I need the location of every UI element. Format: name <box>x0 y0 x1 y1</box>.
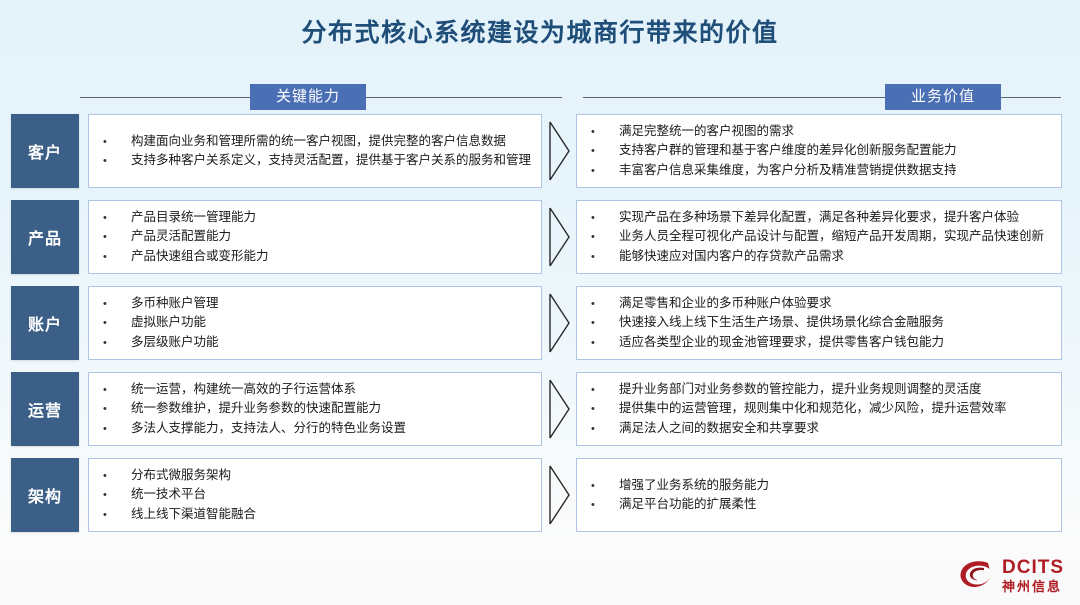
bullet-item: •虚拟账户功能 <box>103 313 531 332</box>
bullet-item: •提升业务部门对业务参数的管控能力，提升业务规则调整的灵活度 <box>591 380 1051 399</box>
bullet-text: 产品灵活配置能力 <box>131 230 531 243</box>
slide-title-bar: 分布式核心系统建设为城商行带来的价值 <box>0 0 1080 62</box>
arrow-right-icon <box>542 114 576 188</box>
bullet-dot-icon: • <box>591 127 619 138</box>
bullet-dot-icon: • <box>591 424 619 435</box>
bullet-item: •快速接入线上线下生活生产场景、提供场景化综合金融服务 <box>591 313 1051 332</box>
bullet-item: •满足完整统一的客户视图的需求 <box>591 122 1051 141</box>
bullet-text: 业务人员全程可视化产品设计与配置，缩短产品开发周期，实现产品快速创新 <box>619 230 1051 243</box>
bullet-dot-icon: • <box>591 166 619 177</box>
capabilities-box: •多币种账户管理•虚拟账户功能•多层级账户功能 <box>88 286 542 360</box>
bullet-dot-icon: • <box>103 232 131 243</box>
bullet-item: •适应各类型企业的现金池管理要求，提供零售客户钱包能力 <box>591 333 1051 352</box>
bullet-dot-icon: • <box>591 146 619 157</box>
bullet-item: •线上线下渠道智能融合 <box>103 505 531 524</box>
bullet-text: 快速接入线上线下生活生产场景、提供场景化综合金融服务 <box>619 316 1051 329</box>
matrix-row: 账户•多币种账户管理•虚拟账户功能•多层级账户功能•满足零售和企业的多币种账户体… <box>0 286 1080 360</box>
bullet-text: 分布式微服务架构 <box>131 469 531 482</box>
page-title: 分布式核心系统建设为城商行带来的价值 <box>301 13 778 49</box>
logo-brand-cn: 神州信息 <box>1002 580 1064 593</box>
bullet-text: 产品快速组合或变形能力 <box>131 250 531 263</box>
column-headers: 关键能力 业务价值 <box>0 82 1080 112</box>
bullet-item: •统一参数维护，提升业务参数的快速配置能力 <box>103 399 531 418</box>
slide-canvas: 分布式核心系统建设为城商行带来的价值 关键能力 业务价值 客户•构建面向业务和管… <box>0 0 1080 605</box>
row-label-text: 账户 <box>28 311 62 335</box>
row-label-text: 产品 <box>28 225 62 249</box>
arrow-right-icon <box>542 200 576 274</box>
row-label-text: 架构 <box>28 483 62 507</box>
bullet-dot-icon: • <box>591 318 619 329</box>
column-header-label-values: 业务价值 <box>885 84 1001 110</box>
bullet-item: •支持多种客户关系定义，支持灵活配置，提供基于客户关系的服务和管理 <box>103 151 531 170</box>
bullet-text: 统一运营，构建统一高效的子行运营体系 <box>131 383 531 396</box>
header-rule-right <box>1001 97 1061 98</box>
bullet-text: 满足完整统一的客户视图的需求 <box>619 125 1051 138</box>
bullet-item: •支持客户群的管理和基于客户维度的差异化创新服务配置能力 <box>591 141 1051 160</box>
bullet-text: 产品目录统一管理能力 <box>131 211 531 224</box>
bullet-text: 虚拟账户功能 <box>131 316 531 329</box>
bullet-item: •多层级账户功能 <box>103 333 531 352</box>
bullet-item: •产品快速组合或变形能力 <box>103 247 531 266</box>
bullet-item: •满足零售和企业的多币种账户体验要求 <box>591 294 1051 313</box>
company-logo: DCITS 神州信息 <box>958 555 1064 595</box>
matrix-row: 产品•产品目录统一管理能力•产品灵活配置能力•产品快速组合或变形能力•实现产品在… <box>0 200 1080 274</box>
bullet-item: •提供集中的运营管理，规则集中化和规范化，减少风险，提升运营效率 <box>591 399 1051 418</box>
business-value-box: •实现产品在多种场景下差异化配置，满足各种差异化要求，提升客户体验•业务人员全程… <box>576 200 1062 274</box>
bullet-dot-icon: • <box>103 510 131 521</box>
capabilities-box: •分布式微服务架构•统一技术平台•线上线下渠道智能融合 <box>88 458 542 532</box>
bullet-text: 丰富客户信息采集维度，为客户分析及精准营销提供数据支持 <box>619 164 1051 177</box>
bullet-text: 线上线下渠道智能融合 <box>131 508 531 521</box>
bullet-item: •多币种账户管理 <box>103 294 531 313</box>
header-rule-left <box>583 97 885 98</box>
bullet-text: 满足法人之间的数据安全和共享要求 <box>619 422 1051 435</box>
bullet-text: 满足平台功能的扩展柔性 <box>619 498 1051 511</box>
bullet-dot-icon: • <box>103 156 131 167</box>
bullet-item: •丰富客户信息采集维度，为客户分析及精准营销提供数据支持 <box>591 161 1051 180</box>
bullet-text: 提供集中的运营管理，规则集中化和规范化，减少风险，提升运营效率 <box>619 402 1051 415</box>
bullet-text: 多币种账户管理 <box>131 297 531 310</box>
logo-brand-en: DCITS <box>1002 558 1064 577</box>
bullet-dot-icon: • <box>591 252 619 263</box>
bullet-item: •满足平台功能的扩展柔性 <box>591 495 1051 514</box>
row-label-1: 客户 <box>11 114 79 188</box>
bullet-text: 能够快速应对国内客户的存贷款产品需求 <box>619 250 1051 263</box>
capabilities-box: •产品目录统一管理能力•产品灵活配置能力•产品快速组合或变形能力 <box>88 200 542 274</box>
bullet-text: 多法人支撑能力，支持法人、分行的特色业务设置 <box>131 422 531 435</box>
matrix-row: 运营•统一运营，构建统一高效的子行运营体系•统一参数维护，提升业务参数的快速配置… <box>0 372 1080 446</box>
column-header-label-capabilities: 关键能力 <box>250 84 366 110</box>
bullet-item: •产品目录统一管理能力 <box>103 208 531 227</box>
business-value-box: •满足完整统一的客户视图的需求•支持客户群的管理和基于客户维度的差异化创新服务配… <box>576 114 1062 188</box>
row-label-text: 客户 <box>28 139 62 163</box>
bullet-text: 多层级账户功能 <box>131 336 531 349</box>
business-value-box: •满足零售和企业的多币种账户体验要求•快速接入线上线下生活生产场景、提供场景化综… <box>576 286 1062 360</box>
bullet-dot-icon: • <box>591 404 619 415</box>
bullet-dot-icon: • <box>103 299 131 310</box>
row-label-5: 架构 <box>11 458 79 532</box>
column-header-values: 业务价值 <box>583 82 1061 112</box>
matrix-row: 架构•分布式微服务架构•统一技术平台•线上线下渠道智能融合•增强了业务系统的服务… <box>0 458 1080 532</box>
row-label-4: 运营 <box>11 372 79 446</box>
header-rule-right <box>366 97 562 98</box>
bullet-dot-icon: • <box>103 338 131 349</box>
bullet-text: 支持客户群的管理和基于客户维度的差异化创新服务配置能力 <box>619 144 1051 157</box>
bullet-dot-icon: • <box>591 385 619 396</box>
bullet-item: •构建面向业务和管理所需的统一客户视图，提供完整的客户信息数据 <box>103 132 531 151</box>
bullet-dot-icon: • <box>591 338 619 349</box>
bullet-dot-icon: • <box>103 471 131 482</box>
bullet-dot-icon: • <box>591 481 619 492</box>
bullet-dot-icon: • <box>103 318 131 329</box>
business-value-box: •增强了业务系统的服务能力•满足平台功能的扩展柔性 <box>576 458 1062 532</box>
bullet-item: •能够快速应对国内客户的存贷款产品需求 <box>591 247 1051 266</box>
row-label-text: 运营 <box>28 397 62 421</box>
bullet-text: 实现产品在多种场景下差异化配置，满足各种差异化要求，提升客户体验 <box>619 211 1051 224</box>
bullet-text: 统一技术平台 <box>131 488 531 501</box>
bullet-text: 提升业务部门对业务参数的管控能力，提升业务规则调整的灵活度 <box>619 383 1051 396</box>
capabilities-box: •统一运营，构建统一高效的子行运营体系•统一参数维护，提升业务参数的快速配置能力… <box>88 372 542 446</box>
bullet-item: •实现产品在多种场景下差异化配置，满足各种差异化要求，提升客户体验 <box>591 208 1051 227</box>
bullet-item: •统一运营，构建统一高效的子行运营体系 <box>103 380 531 399</box>
bullet-item: •统一技术平台 <box>103 485 531 504</box>
bullet-dot-icon: • <box>103 137 131 148</box>
bullet-dot-icon: • <box>103 252 131 263</box>
bullet-text: 适应各类型企业的现金池管理要求，提供零售客户钱包能力 <box>619 336 1051 349</box>
bullet-item: •多法人支撑能力，支持法人、分行的特色业务设置 <box>103 419 531 438</box>
bullet-text: 统一参数维护，提升业务参数的快速配置能力 <box>131 402 531 415</box>
capabilities-box: •构建面向业务和管理所需的统一客户视图，提供完整的客户信息数据•支持多种客户关系… <box>88 114 542 188</box>
arrow-right-icon <box>542 458 576 532</box>
bullet-text: 构建面向业务和管理所需的统一客户视图，提供完整的客户信息数据 <box>131 135 531 148</box>
business-value-box: •提升业务部门对业务参数的管控能力，提升业务规则调整的灵活度•提供集中的运营管理… <box>576 372 1062 446</box>
bullet-text: 支持多种客户关系定义，支持灵活配置，提供基于客户关系的服务和管理 <box>131 154 531 167</box>
header-rule-left <box>80 97 250 98</box>
bullet-dot-icon: • <box>591 299 619 310</box>
capability-value-matrix: 客户•构建面向业务和管理所需的统一客户视图，提供完整的客户信息数据•支持多种客户… <box>0 114 1080 544</box>
row-label-2: 产品 <box>11 200 79 274</box>
arrow-right-icon <box>542 286 576 360</box>
bullet-dot-icon: • <box>103 490 131 501</box>
bullet-dot-icon: • <box>103 404 131 415</box>
column-header-capabilities: 关键能力 <box>80 82 562 112</box>
row-label-3: 账户 <box>11 286 79 360</box>
matrix-row: 客户•构建面向业务和管理所需的统一客户视图，提供完整的客户信息数据•支持多种客户… <box>0 114 1080 188</box>
logo-wordmark: DCITS 神州信息 <box>1002 558 1064 593</box>
bullet-dot-icon: • <box>103 213 131 224</box>
dcits-swirl-icon <box>958 558 996 592</box>
bullet-item: •满足法人之间的数据安全和共享要求 <box>591 419 1051 438</box>
bullet-text: 满足零售和企业的多币种账户体验要求 <box>619 297 1051 310</box>
bullet-item: •产品灵活配置能力 <box>103 227 531 246</box>
bullet-dot-icon: • <box>103 385 131 396</box>
bullet-dot-icon: • <box>591 500 619 511</box>
bullet-dot-icon: • <box>591 232 619 243</box>
bullet-dot-icon: • <box>103 424 131 435</box>
bullet-dot-icon: • <box>591 213 619 224</box>
bullet-item: •增强了业务系统的服务能力 <box>591 476 1051 495</box>
bullet-text: 增强了业务系统的服务能力 <box>619 479 1051 492</box>
bullet-item: •分布式微服务架构 <box>103 466 531 485</box>
arrow-right-icon <box>542 372 576 446</box>
bullet-item: •业务人员全程可视化产品设计与配置，缩短产品开发周期，实现产品快速创新 <box>591 227 1051 246</box>
